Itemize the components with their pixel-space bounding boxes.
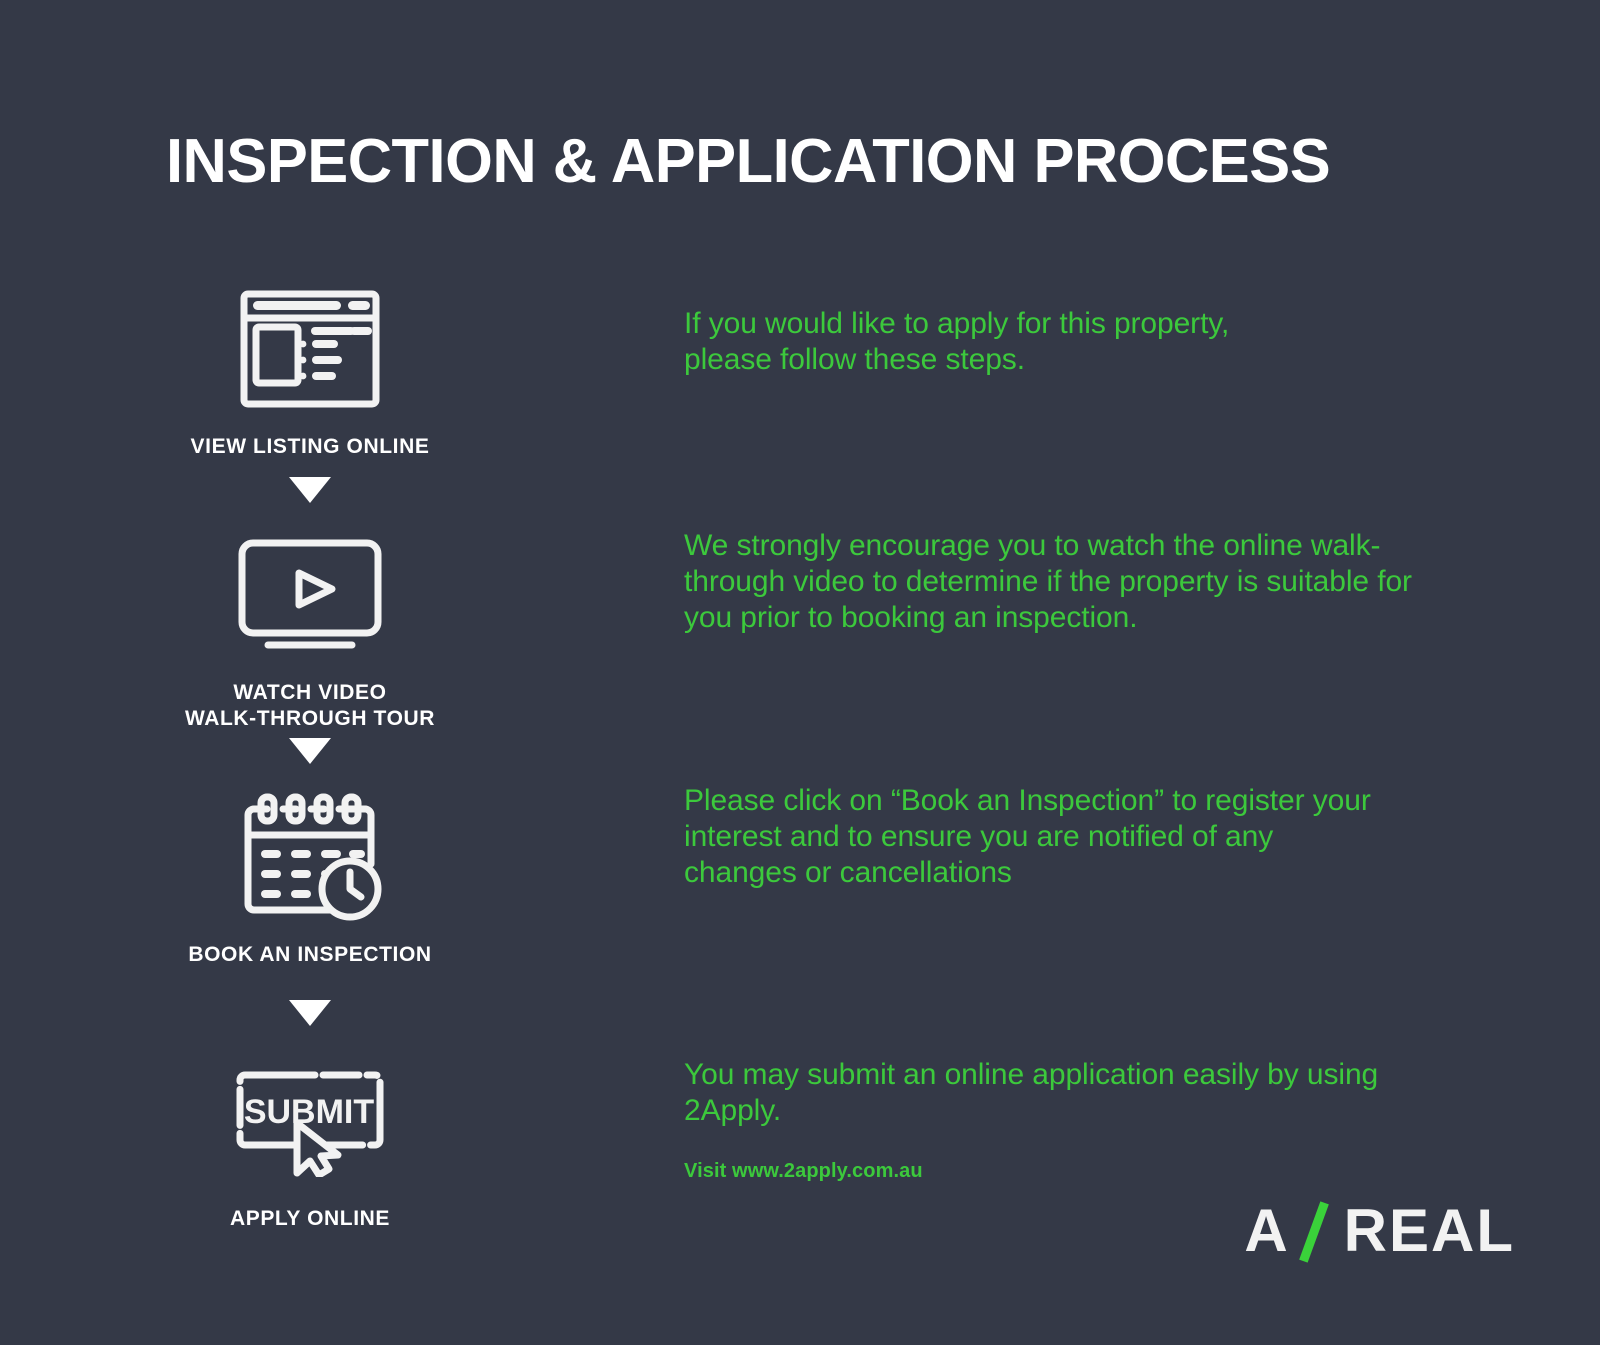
slash-icon xyxy=(1292,1201,1336,1261)
down-triangle-icon xyxy=(0,738,620,764)
note-book-inspection: Please click on “Book an Inspection” to … xyxy=(684,783,1384,891)
step-label: BOOK AN INSPECTION xyxy=(0,942,620,968)
step-book-inspection: BOOK AN INSPECTION xyxy=(0,782,620,968)
step-apply-online: SUBMIT APPLY ONLINE xyxy=(0,1046,620,1232)
step-watch-video: WATCH VIDEO WALK-THROUGH TOUR xyxy=(0,520,620,732)
step-label: WATCH VIDEO WALK-THROUGH TOUR xyxy=(0,680,620,732)
submit-icon-label: SUBMIT xyxy=(244,1093,375,1131)
down-triangle-icon xyxy=(0,1000,620,1026)
browser-listing-icon xyxy=(0,274,620,424)
submit-button-cursor-icon: SUBMIT xyxy=(0,1046,620,1196)
step-label-line1: WATCH VIDEO xyxy=(233,681,386,704)
step-label: VIEW LISTING ONLINE xyxy=(0,434,620,460)
note-apply-intro: If you would like to apply for this prop… xyxy=(684,306,1324,378)
step-label: APPLY ONLINE xyxy=(0,1206,620,1232)
step-label-line2: WALK-THROUGH TOUR xyxy=(0,706,620,732)
down-triangle-icon xyxy=(0,477,620,503)
logo-letter-a: A xyxy=(1244,1201,1289,1261)
process-steps-column: VIEW LISTING ONLINE WATCH VIDEO WALK-THR… xyxy=(0,0,620,1345)
calendar-clock-icon xyxy=(0,782,620,932)
logo-word-real: REAL xyxy=(1344,1201,1515,1261)
step-view-listing-online: VIEW LISTING ONLINE xyxy=(0,274,620,460)
brand-logo: A REAL xyxy=(1244,1199,1515,1263)
visit-link[interactable]: Visit www.2apply.com.au xyxy=(684,1160,923,1183)
video-play-monitor-icon xyxy=(0,520,620,670)
note-apply-online: You may submit an online application eas… xyxy=(684,1057,1384,1129)
note-watch-video: We strongly encourage you to watch the o… xyxy=(684,528,1414,636)
step-label-line1: APPLY ONLINE xyxy=(230,1207,390,1230)
step-label-line1: BOOK AN INSPECTION xyxy=(188,943,431,966)
step-label-line1: VIEW LISTING ONLINE xyxy=(191,435,430,458)
